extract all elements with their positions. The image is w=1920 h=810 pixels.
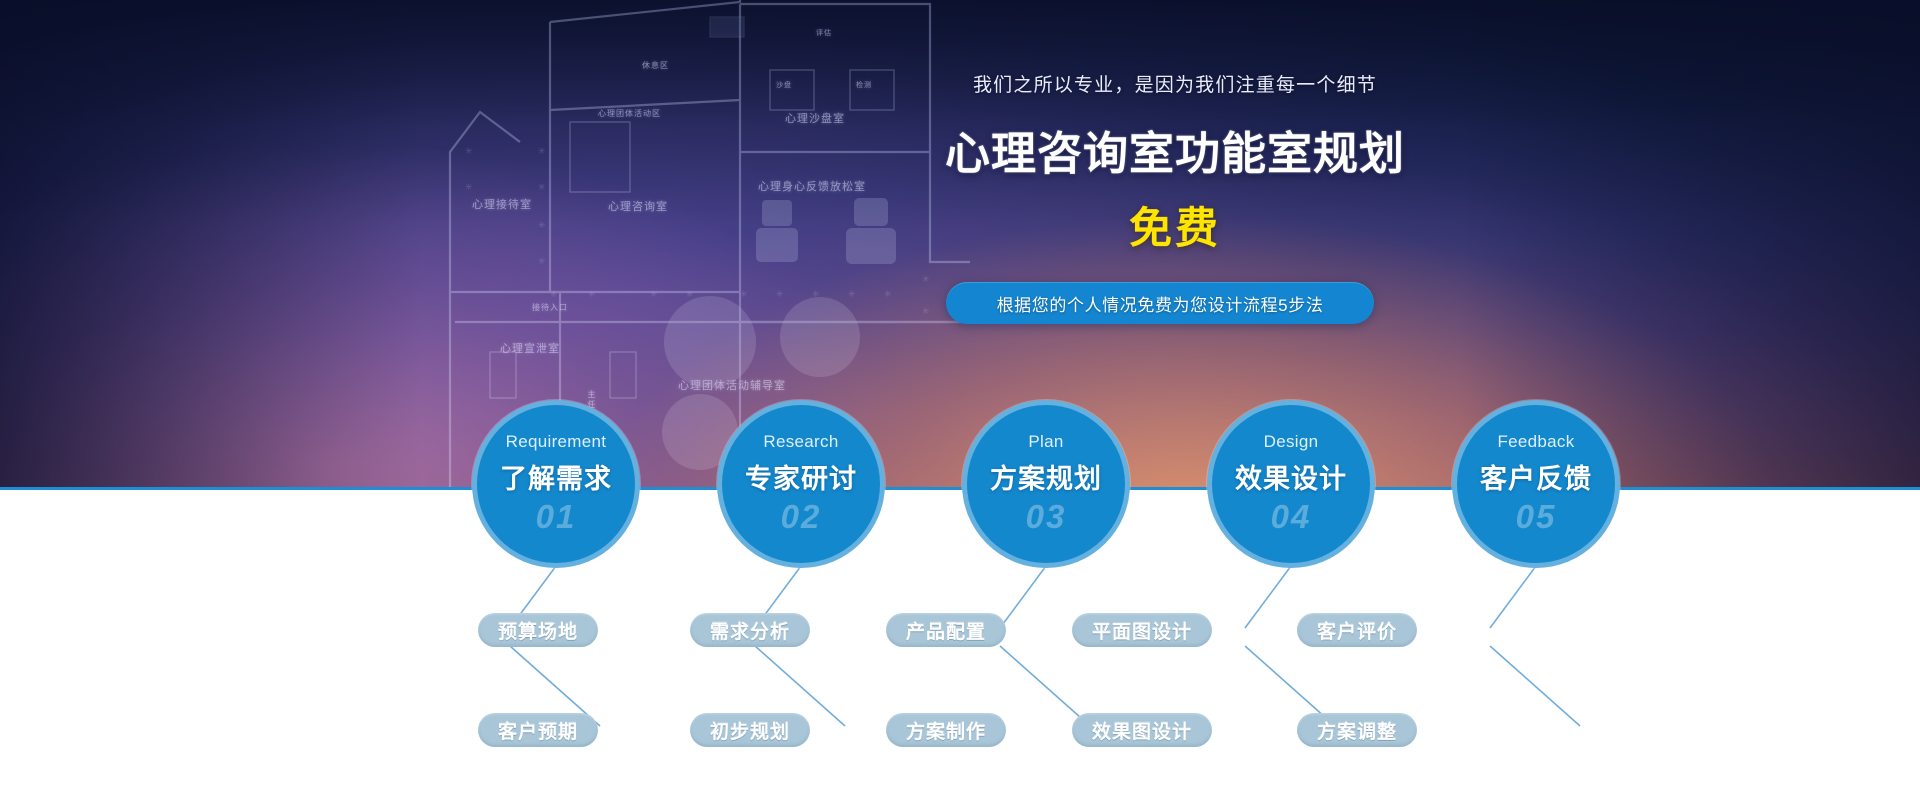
promo-banner: ✳✳ ✳✳ ✳✳ ✳✳ ✳✳ ✳✳ ✳✳ ✳✳ ✳ 心理沙盘室 心理身心反馈放松…	[0, 0, 1920, 810]
flow-step-en-label: Research	[763, 432, 838, 452]
flow-step-3[interactable]: Plan 方案规划 03	[962, 400, 1130, 568]
flow-step-en-label: Feedback	[1497, 432, 1574, 452]
flow-step-5[interactable]: Feedback 客户反馈 05	[1452, 400, 1620, 568]
flow-step-en-label: Requirement	[506, 432, 607, 452]
flow-step-cn-label: 客户反馈	[1480, 457, 1592, 496]
flow-tag-3-b[interactable]: 方案制作	[886, 713, 1006, 747]
flow-step-en-label: Design	[1264, 432, 1319, 452]
flow-step-2[interactable]: Research 专家研讨 02	[717, 400, 885, 568]
flow-step-cn-label: 了解需求	[500, 457, 612, 496]
flow-step-number: 04	[1271, 498, 1312, 536]
flow-tag-5-b[interactable]: 方案调整	[1297, 713, 1417, 747]
flow-tag-2-a[interactable]: 需求分析	[690, 613, 810, 647]
flow-tag-1-b[interactable]: 客户预期	[478, 713, 598, 747]
flow-tag-2-b[interactable]: 初步规划	[690, 713, 810, 747]
flow-step-1[interactable]: Requirement 了解需求 01	[472, 400, 640, 568]
flow-connectors	[0, 0, 1920, 810]
flow-step-cn-label: 方案规划	[990, 457, 1102, 496]
flow-tag-4-b[interactable]: 效果图设计	[1072, 713, 1212, 747]
flow-step-number: 02	[781, 498, 822, 536]
flow-step-number: 03	[1026, 498, 1067, 536]
flow-step-cn-label: 效果设计	[1235, 457, 1347, 496]
flow-tag-5-a[interactable]: 客户评价	[1297, 613, 1417, 647]
flow-step-cn-label: 专家研讨	[745, 457, 857, 496]
flow-step-number: 01	[536, 498, 577, 536]
flow-step-en-label: Plan	[1028, 432, 1063, 452]
flow-tag-3-a[interactable]: 产品配置	[886, 613, 1006, 647]
flow-step-4[interactable]: Design 效果设计 04	[1207, 400, 1375, 568]
flow-step-number: 05	[1516, 498, 1557, 536]
flow-tag-4-a[interactable]: 平面图设计	[1072, 613, 1212, 647]
flow-tag-1-a[interactable]: 预算场地	[478, 613, 598, 647]
